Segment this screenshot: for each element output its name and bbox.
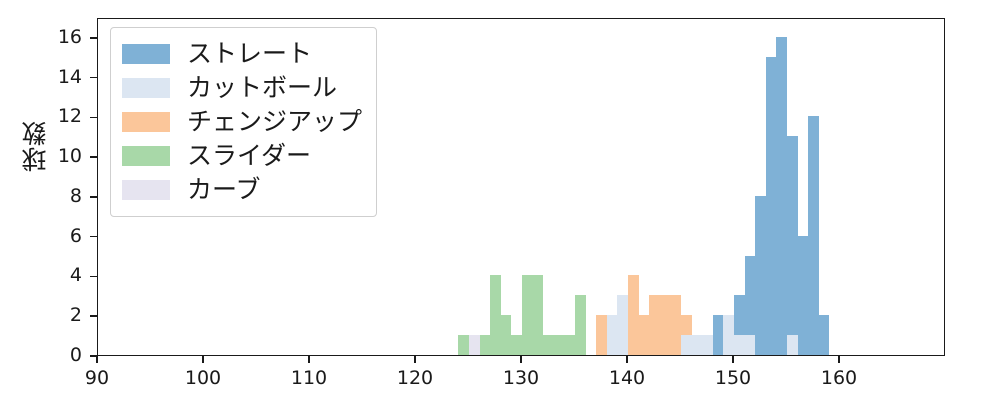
y-axis-tick-label: 12 xyxy=(42,106,82,126)
x-axis-tick-label: 90 xyxy=(67,366,127,390)
histogram-bar xyxy=(575,295,586,355)
x-axis-tick-label: 100 xyxy=(173,366,233,390)
x-axis-tick xyxy=(96,356,98,363)
histogram-bar xyxy=(798,236,809,355)
histogram-bar xyxy=(808,116,819,355)
histogram-figure: 球数 0246810121416 90100110120130140150160… xyxy=(0,0,1000,400)
legend-color-swatch xyxy=(122,112,170,132)
legend-label: カットボール xyxy=(187,73,337,103)
histogram-bar xyxy=(522,275,533,355)
y-axis-tick xyxy=(90,236,97,238)
histogram-bar xyxy=(564,335,575,355)
legend-color-swatch xyxy=(122,78,170,98)
legend-color-swatch xyxy=(122,44,170,64)
histogram-bar xyxy=(458,335,469,355)
histogram-bar xyxy=(702,335,713,355)
histogram-bar xyxy=(649,295,660,355)
histogram-bar xyxy=(819,315,830,355)
y-axis-tick-label: 14 xyxy=(42,67,82,87)
y-axis-tick-label: 16 xyxy=(42,27,82,47)
histogram-bar xyxy=(501,315,512,355)
histogram-bar xyxy=(670,295,681,355)
y-axis-tick xyxy=(90,276,97,278)
histogram-bar xyxy=(533,275,544,355)
histogram-bar xyxy=(639,315,650,355)
y-axis-tick-label: 8 xyxy=(42,186,82,206)
y-axis-tick xyxy=(90,117,97,119)
histogram-bar xyxy=(617,295,628,355)
histogram-bar xyxy=(511,335,522,355)
x-axis-tick-label: 120 xyxy=(385,366,445,390)
y-axis-tick xyxy=(90,315,97,317)
x-axis-tick-label: 140 xyxy=(597,366,657,390)
histogram-bar xyxy=(776,37,787,355)
legend-label: カーブ xyxy=(187,175,261,205)
histogram-bar xyxy=(723,315,734,355)
y-axis-tick-label: 0 xyxy=(42,345,82,365)
legend-item[interactable]: チェンジアップ xyxy=(122,105,362,139)
histogram-bar xyxy=(660,295,671,355)
histogram-bar xyxy=(734,335,745,355)
y-axis-tick xyxy=(90,156,97,158)
y-axis-tick-label: 2 xyxy=(42,305,82,325)
legend-label: スライダー xyxy=(187,141,311,171)
x-axis-tick-label: 110 xyxy=(279,366,339,390)
legend-color-swatch xyxy=(122,146,170,166)
histogram-bar xyxy=(543,335,554,355)
histogram-bar xyxy=(490,275,501,355)
histogram-bar xyxy=(787,335,798,355)
histogram-bar xyxy=(692,335,703,355)
x-axis-tick-label: 160 xyxy=(809,366,869,390)
x-axis-tick xyxy=(308,356,310,363)
x-axis-tick xyxy=(520,356,522,363)
x-axis-tick xyxy=(732,356,734,363)
histogram-bar xyxy=(681,335,692,355)
histogram-bar xyxy=(480,335,491,355)
x-axis-tick xyxy=(838,356,840,363)
histogram-bar xyxy=(628,275,639,355)
x-axis-tick xyxy=(626,356,628,363)
x-axis-tick xyxy=(202,356,204,363)
y-axis-tick xyxy=(90,77,97,79)
histogram-bar xyxy=(713,315,724,355)
legend-item[interactable]: カットボール xyxy=(122,71,362,105)
y-axis-tick xyxy=(90,196,97,198)
legend-color-swatch xyxy=(122,180,170,200)
legend-item[interactable]: カーブ xyxy=(122,173,362,207)
y-axis-tick-label: 6 xyxy=(42,226,82,246)
x-axis-tick xyxy=(414,356,416,363)
histogram-bar xyxy=(787,136,798,355)
legend: ストレートカットボールチェンジアップスライダーカーブ xyxy=(110,27,377,217)
legend-item[interactable]: スライダー xyxy=(122,139,362,173)
legend-item[interactable]: ストレート xyxy=(122,37,362,71)
histogram-bar xyxy=(469,335,480,355)
histogram-bar xyxy=(755,196,766,355)
legend-label: ストレート xyxy=(187,39,312,69)
histogram-bar xyxy=(596,315,607,355)
x-axis-tick-label: 150 xyxy=(703,366,763,390)
histogram-bar xyxy=(766,57,777,355)
y-axis-tick-label: 4 xyxy=(42,265,82,285)
x-axis-tick-label: 130 xyxy=(491,366,551,390)
y-axis-tick xyxy=(90,37,97,39)
histogram-bar xyxy=(607,315,618,355)
histogram-bar xyxy=(554,335,565,355)
y-axis-tick-label: 10 xyxy=(42,146,82,166)
histogram-bar xyxy=(745,335,756,355)
legend-label: チェンジアップ xyxy=(187,107,362,137)
